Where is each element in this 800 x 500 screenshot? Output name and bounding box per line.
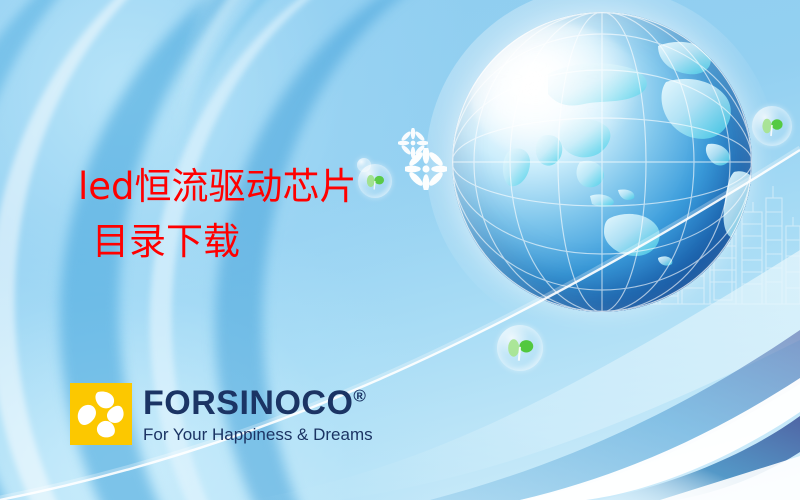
logo-text-block: FORSINOCO® For Your Happiness & Dreams <box>143 386 373 443</box>
headline-line-2: 目录下载 <box>78 215 357 270</box>
brand-logo: FORSINOCO® For Your Happiness & Dreams <box>70 383 373 445</box>
registered-trademark-icon: ® <box>353 386 366 405</box>
brand-name-text: FORSINOCO <box>143 384 353 422</box>
page-title: led恒流驱动芯片 目录下载 <box>78 160 357 270</box>
brand-tagline: For Your Happiness & Dreams <box>143 426 373 443</box>
headline-line-1: led恒流驱动芯片 <box>78 165 357 208</box>
four-petal-pinwheel-icon <box>70 383 132 445</box>
brand-name: FORSINOCO® <box>143 386 373 420</box>
promo-banner: led恒流驱动芯片 目录下载 FORSINOCO® For Your Happi… <box>0 0 800 500</box>
